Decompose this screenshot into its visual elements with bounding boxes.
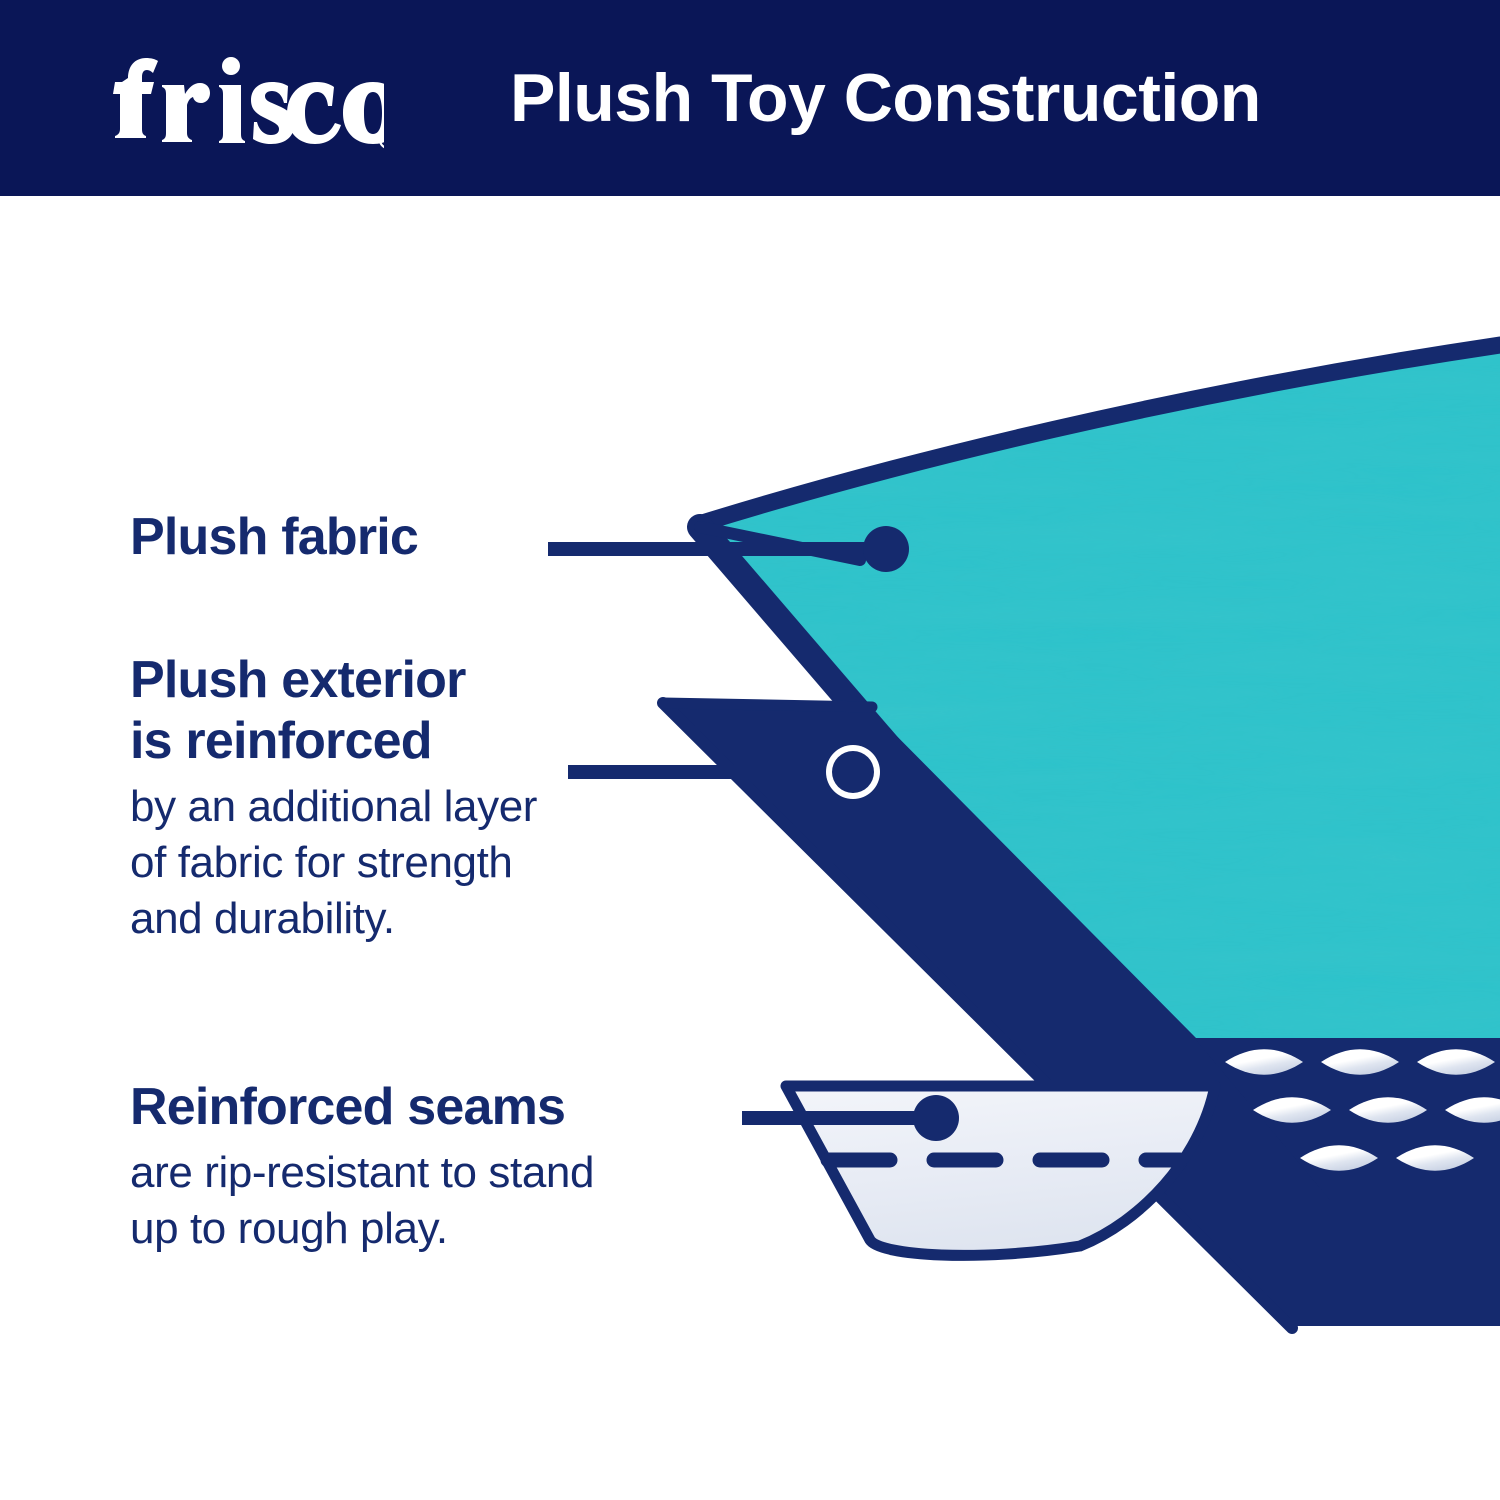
- mesh-tip-edge: [663, 703, 872, 707]
- callout-plush-exterior-heading: Plush exterior is reinforced: [130, 650, 537, 772]
- frisco-logo: R: [84, 44, 384, 152]
- callout-plush-exterior-body: by an additional layer of fabric for str…: [130, 779, 537, 948]
- frisco-wordmark-icon: R: [84, 50, 384, 154]
- page-title: Plush Toy Construction: [510, 50, 1400, 146]
- marker-dot-plush-fabric[interactable]: [863, 526, 909, 572]
- callout-plush-fabric: Plush fabric: [130, 507, 418, 568]
- header-band: R Plush Toy Construction: [0, 0, 1500, 196]
- marker-dot-reinforced-seams[interactable]: [913, 1095, 959, 1141]
- callout-plush-fabric-heading: Plush fabric: [130, 507, 418, 568]
- callout-plush-exterior: Plush exterior is reinforced by an addit…: [130, 650, 537, 948]
- callout-reinforced-seams-heading: Reinforced seams: [130, 1077, 594, 1138]
- callout-reinforced-seams: Reinforced seams are rip-resistant to st…: [130, 1077, 594, 1257]
- callout-reinforced-seams-body: are rip-resistant to stand up to rough p…: [130, 1145, 594, 1258]
- marker-dot-plush-exterior[interactable]: [832, 751, 874, 793]
